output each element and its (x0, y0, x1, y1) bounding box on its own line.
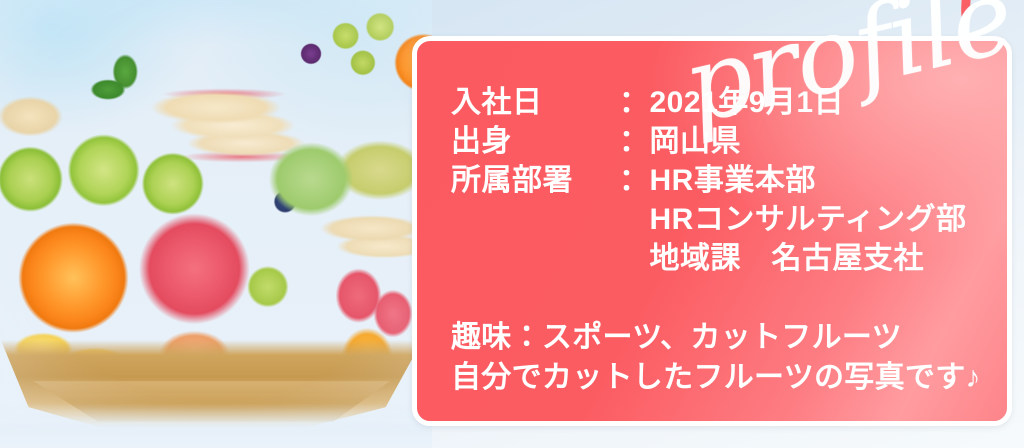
info-value: 岡山県 (650, 122, 967, 161)
photo-vignette (0, 0, 432, 448)
info-value: HR事業本部 (650, 161, 967, 200)
table-row: 入社日 ： 2021年9月1日 (451, 83, 967, 122)
info-label: 所属部署 (451, 161, 619, 200)
info-separator: ： (619, 161, 650, 200)
table-row: 所属部署 ： HR事業本部 (451, 161, 967, 200)
table-row: 出身 ： 岡山県 (451, 122, 967, 161)
info-separator: ： (619, 83, 650, 122)
photo-canvas (0, 0, 432, 448)
info-label (451, 239, 619, 278)
info-separator: ： (619, 122, 650, 161)
info-label: 出身 (451, 122, 619, 161)
info-separator (619, 200, 650, 239)
table-row: 地域課 名古屋支社 (451, 239, 967, 278)
info-value: HRコンサルティング部 (650, 200, 967, 239)
hobby-block: 趣味：スポーツ、カットフルーツ 自分でカットしたフルーツの写真です♪ (451, 318, 987, 398)
info-value: 2021年9月1日 (650, 83, 967, 122)
info-separator (619, 239, 650, 278)
fruit-platter-photo (0, 0, 432, 448)
table-row: HRコンサルティング部 (451, 200, 967, 239)
profile-info-table: 入社日 ： 2021年9月1日 出身 ： 岡山県 所属部署 ： HR事業本部 (451, 83, 967, 278)
profile-card: profile 入社日 ： 2021年9月1日 出身 ： 岡山県 所属部署 (412, 36, 1012, 426)
photo-bottom-fade (0, 403, 432, 448)
hobby-line: 趣味：スポーツ、カットフルーツ (451, 318, 987, 358)
hobby-line: 自分でカットしたフルーツの写真です♪ (451, 358, 987, 398)
info-value: 地域課 名古屋支社 (650, 239, 967, 278)
info-label (451, 200, 619, 239)
profile-banner: profile 入社日 ： 2021年9月1日 出身 ： 岡山県 所属部署 (0, 0, 1024, 448)
info-label: 入社日 (451, 83, 619, 122)
profile-card-body: 入社日 ： 2021年9月1日 出身 ： 岡山県 所属部署 ： HR事業本部 (451, 83, 987, 398)
